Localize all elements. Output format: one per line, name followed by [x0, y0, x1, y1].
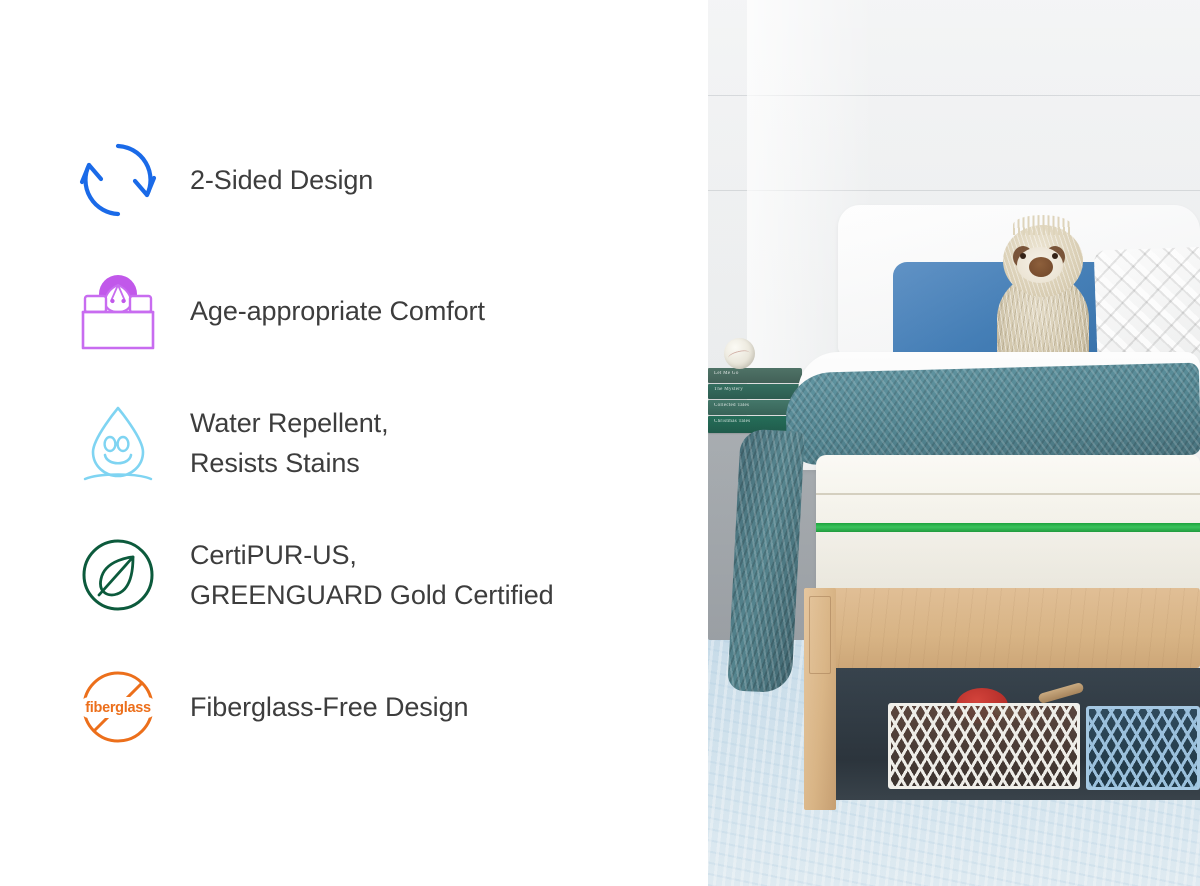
crate-lattice	[1089, 709, 1197, 787]
bed-leg-joint	[809, 596, 831, 674]
no-fiberglass-icon: fiberglass	[72, 661, 164, 753]
feature-label: Age-appropriate Comfort	[164, 291, 485, 331]
feature-label: Fiberglass-Free Design	[164, 687, 468, 727]
book-title: Christmas Tales	[714, 419, 794, 424]
feature-item-age-appropriate-comfort: Age-appropriate Comfort	[72, 263, 485, 359]
cream-mattress	[816, 455, 1200, 595]
white-storage-crate	[888, 703, 1080, 789]
baseball	[724, 338, 755, 369]
svg-text:fiberglass: fiberglass	[85, 700, 151, 716]
book-title: The Mystery	[714, 387, 794, 392]
feature-item-certipur-greenguard: CertiPUR-US, GREENGUARD Gold Certified	[72, 527, 554, 623]
sloth-snout	[1029, 257, 1053, 277]
feature-label: 2-Sided Design	[164, 160, 373, 200]
book: Collected Tales	[708, 400, 798, 415]
feature-item-two-sided-design: 2-Sided Design	[72, 132, 373, 228]
sloth-eye	[1052, 253, 1058, 259]
feature-item-fiberglass-free: fiberglass Fiberglass-Free Design	[72, 659, 468, 755]
wall-seam	[708, 190, 1200, 191]
features-panel: 2-Sided Design	[0, 0, 708, 886]
crate-lattice	[891, 706, 1077, 786]
child-in-bed-icon	[72, 265, 164, 357]
mattress-seam	[816, 493, 1200, 495]
feature-label: Water Repellent, Resists Stains	[164, 403, 389, 483]
feature-highlight-page: 2-Sided Design	[0, 0, 1200, 886]
bedroom-photo: Let Me Go The Mystery Collected Tales Ch…	[708, 0, 1200, 886]
mattress-green-stripe	[816, 523, 1200, 532]
smiling-water-drop-icon	[72, 397, 164, 489]
sloth-tuft	[1013, 215, 1071, 235]
sloth-eye	[1020, 253, 1026, 259]
blue-storage-crate	[1086, 706, 1200, 790]
leaf-in-circle-icon	[72, 529, 164, 621]
feature-item-water-repellent: Water Repellent, Resists Stains	[72, 395, 389, 491]
wall-seam	[708, 95, 1200, 96]
feature-label: CertiPUR-US, GREENGUARD Gold Certified	[164, 535, 554, 615]
book-title: Let Me Go	[714, 371, 794, 376]
wooden-bed-rail	[804, 588, 1200, 668]
teal-knit-blanket	[785, 363, 1200, 466]
refresh-cycle-icon	[72, 134, 164, 226]
teal-blanket-drape	[727, 429, 805, 694]
book-title: Collected Tales	[714, 403, 794, 408]
